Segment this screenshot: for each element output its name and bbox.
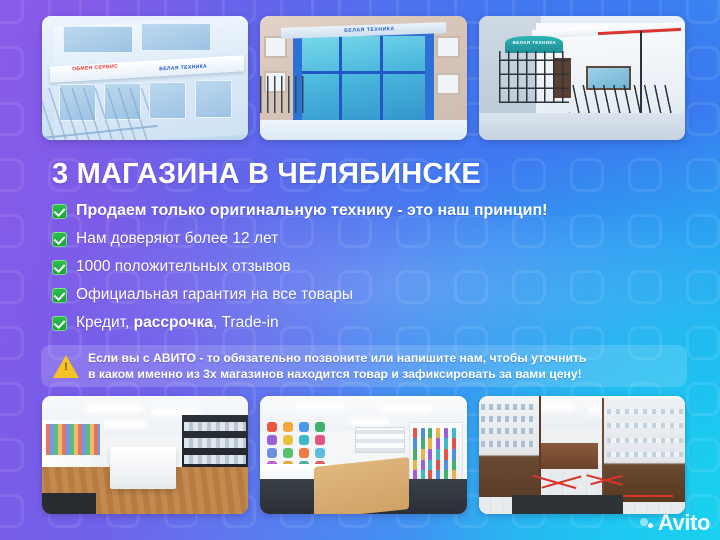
benefit-text: Официальная гарантия на все товары — [76, 286, 353, 303]
warning-line-1: Если вы с АВИТО - то обязательно позвони… — [88, 350, 586, 366]
window — [436, 73, 461, 95]
ceiling-lamp — [87, 407, 141, 411]
mullion — [380, 36, 383, 130]
ground — [479, 113, 685, 140]
warning-triangle-icon — [53, 355, 79, 378]
photo-interior-icon-wall[interactable]: Интерьер магазина со стеной из иконок пр… — [260, 396, 466, 514]
front-desk — [42, 493, 96, 514]
shelf-row — [184, 455, 246, 464]
avito-watermark: Avito — [640, 512, 710, 534]
mullion — [339, 36, 342, 130]
ceiling-lamp — [297, 404, 342, 408]
ceiling-lamp — [153, 410, 198, 414]
photo-store-entrance-blue[interactable]: БЕЛАЯ ТЕХНИКА Вход в магазин с синими ви… — [260, 16, 466, 140]
photo-row-interiors: Интерьер магазина с белой стойкой и дере… — [42, 396, 685, 514]
snow-ground — [260, 120, 466, 140]
check-mark-button-icon — [52, 204, 67, 219]
check-mark-button-icon — [52, 260, 67, 275]
check-mark-button-icon — [52, 288, 67, 303]
avito-brand-text: Avito — [658, 512, 710, 534]
ceiling-lamp — [104, 422, 145, 426]
staircase — [260, 76, 305, 113]
left-display-cabinet — [479, 396, 541, 497]
benefit-text: Нам доверяют более 12 лет — [76, 230, 278, 247]
warning-text: Если вы с АВИТО - то обязательно позвони… — [88, 350, 586, 382]
warning-banner: Если вы с АВИТО - то обязательно позвони… — [41, 345, 687, 387]
window — [264, 36, 287, 58]
list-item: Нам доверяют более 12 лет — [52, 226, 672, 252]
product-display-wall — [46, 424, 100, 455]
window — [141, 23, 211, 50]
benefits-list: Продаем только оригинальную технику - эт… — [52, 198, 672, 338]
photo-interior-white-counter[interactable]: Интерьер магазина с белой стойкой и дере… — [42, 396, 248, 514]
wooden-counter — [314, 457, 409, 514]
right-display-cabinet — [602, 398, 685, 502]
benefit-text: Кредит, рассрочка, Trade-in — [76, 314, 279, 331]
service-counter — [110, 447, 176, 489]
list-item: 1000 положительных отзывов — [52, 254, 672, 280]
glass-doors — [302, 36, 426, 130]
advertisement-canvas: ОБМЕН СЕРВИС БЕЛАЯ ТЕХНИКА Фасад магазин… — [0, 0, 720, 540]
photo-interior-dark-cabinets[interactable]: Интерьер магазина с темными витринами — [479, 396, 685, 514]
window — [63, 26, 133, 53]
window — [436, 36, 461, 58]
window — [195, 80, 232, 117]
shelf-row — [184, 438, 246, 447]
check-mark-button-icon — [52, 232, 67, 247]
mullion — [302, 71, 426, 74]
warning-line-2: в каком именно из 3х магазинов находится… — [88, 366, 586, 382]
photo-storefront-signboard[interactable]: ОБМЕН СЕРВИС БЕЛАЯ ТЕХНИКА Фасад магазин… — [42, 16, 248, 140]
photo-row-storefronts: ОБМЕН СЕРВИС БЕЛАЯ ТЕХНИКА Фасад магазин… — [42, 16, 685, 140]
avito-dots-icon — [640, 516, 655, 531]
ceiling-lamp — [351, 420, 388, 424]
photo-store-entrance-canopy[interactable]: БЕЛАЯ ТЕХНИКА Белое здание с козырьком и… — [479, 16, 685, 140]
sign-text: БЕЛАЯ ТЕХНИКА — [510, 38, 560, 45]
list-item: Кредит, рассрочка, Trade-in — [52, 310, 672, 336]
service-counter — [541, 443, 599, 469]
accessory-rack — [409, 422, 463, 483]
ceiling-lamp — [380, 407, 430, 411]
list-item: Продаем только оригинальную технику - эт… — [52, 198, 672, 224]
wrought-iron-railing — [499, 51, 569, 103]
front-desk — [512, 495, 623, 514]
check-mark-button-icon — [52, 316, 67, 331]
back-shelving — [355, 427, 405, 453]
list-item: Официальная гарантия на все товары — [52, 282, 672, 308]
benefit-text: Продаем только оригинальную технику - эт… — [76, 202, 547, 220]
benefit-text: 1000 положительных отзывов — [76, 258, 291, 275]
window — [149, 82, 186, 119]
page-title: 3 МАГАЗИНА В ЧЕЛЯБИНСКЕ — [52, 160, 481, 189]
shelf-row — [184, 422, 246, 431]
